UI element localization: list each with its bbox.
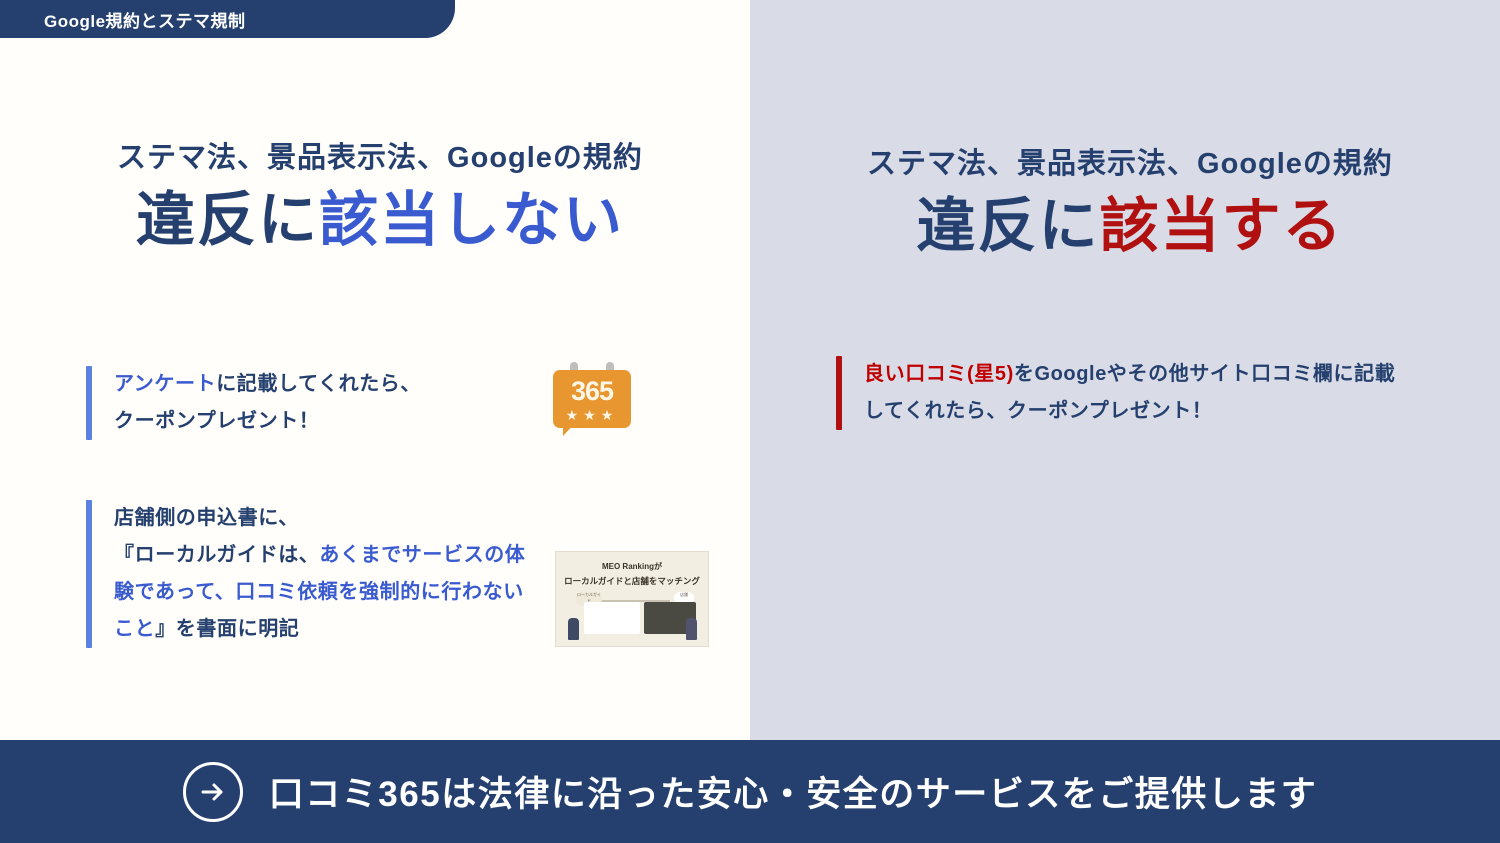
bullet-segment-body-2: クーポンプレゼント！ (114, 410, 319, 432)
left-heading-block: ステマ法、景品表示法、Googleの規約 違反に該当しない (60, 140, 700, 259)
footer-banner: 口コミ365は法律に沿った安心・安全のサービスをご提供します (0, 740, 1500, 843)
left-heading-main-emphasis: 該当しない (319, 187, 624, 253)
right-bullet-1: 良い口コミ(星5)をGoogleやその他サイト口コミ欄に記載してくれたら、クーポ… (836, 356, 1406, 430)
left-bullet-1-text: アンケートに記載してくれたら、 クーポンプレゼント！ (114, 366, 421, 440)
right-heading-block: ステマ法、景品表示法、Googleの規約 違反に該当する (810, 146, 1450, 265)
slide-root: Google規約とステマ規制 ステマ法、景品表示法、Googleの規約 違反に該… (0, 0, 1500, 843)
left-bullet-2-text: 店舗側の申込書に、 『ローカルガイドは、あくまでサービスの体験であって、口コミ依… (114, 500, 536, 648)
header-tab-label: Google規約とステマ規制 (44, 7, 246, 32)
meo-ranking-thumbnail: MEO Rankingが ローカルガイドと店舗をマッチング ローカルガイド 店舗 (555, 551, 709, 647)
right-heading-main: 違反に該当する (810, 188, 1450, 265)
left-bullet-1: アンケートに記載してくれたら、 クーポンプレゼント！ (86, 366, 516, 440)
left-heading-sub: ステマ法、景品表示法、Googleの規約 (60, 140, 700, 176)
right-heading-main-emphasis: 該当する (1100, 193, 1344, 259)
right-heading-sub: ステマ法、景品表示法、Googleの規約 (810, 146, 1450, 182)
left-bullet-2: 店舗側の申込書に、 『ローカルガイドは、あくまでサービスの体験であって、口コミ依… (86, 500, 536, 648)
bullet-accent-bar (836, 356, 842, 430)
bullet-segment-highlight: 良い口コミ(星5) (864, 363, 1014, 385)
bullet-segment-quote-close: 』を書面に明記 (155, 618, 299, 640)
thumbnail-illustration: ローカルガイド 店舗 (564, 592, 700, 640)
thumbnail-person-right-icon (686, 618, 697, 640)
thumbnail-title-line1: MEO Rankingが (556, 561, 708, 572)
header-tab: Google規約とステマ規制 (0, 0, 455, 38)
bullet-accent-bar (86, 500, 92, 648)
right-heading-main-prefix: 違反に (916, 193, 1099, 259)
logo-365-stars: ★★★ (553, 407, 631, 424)
right-bullet-1-text: 良い口コミ(星5)をGoogleやその他サイト口コミ欄に記載してくれたら、クーポ… (864, 356, 1406, 430)
logo-speech-tail (563, 422, 576, 436)
arrow-right-circle-icon (183, 762, 243, 822)
logo-365-number: 365 (553, 376, 631, 407)
thumbnail-title-line2: ローカルガイドと店舗をマッチング (556, 575, 708, 587)
bullet-segment-highlight: アンケート (114, 373, 216, 395)
footer-text: 口コミ365は法律に沿った安心・安全のサービスをご提供します (269, 766, 1317, 817)
logo-365-icon: 365 ★★★ (553, 362, 631, 428)
left-heading-main: 違反に該当しない (60, 182, 700, 259)
thumbnail-person-left-icon (568, 618, 579, 640)
bullet-accent-bar (86, 366, 92, 440)
bullet-segment-quote-open: 『ローカルガイドは、 (114, 544, 319, 566)
left-heading-main-prefix: 違反に (136, 187, 319, 253)
bullet-segment-body: に記載してくれたら、 (216, 373, 421, 395)
thumbnail-card-left (584, 602, 640, 634)
bullet-segment-intro: 店舗側の申込書に、 (114, 507, 299, 529)
